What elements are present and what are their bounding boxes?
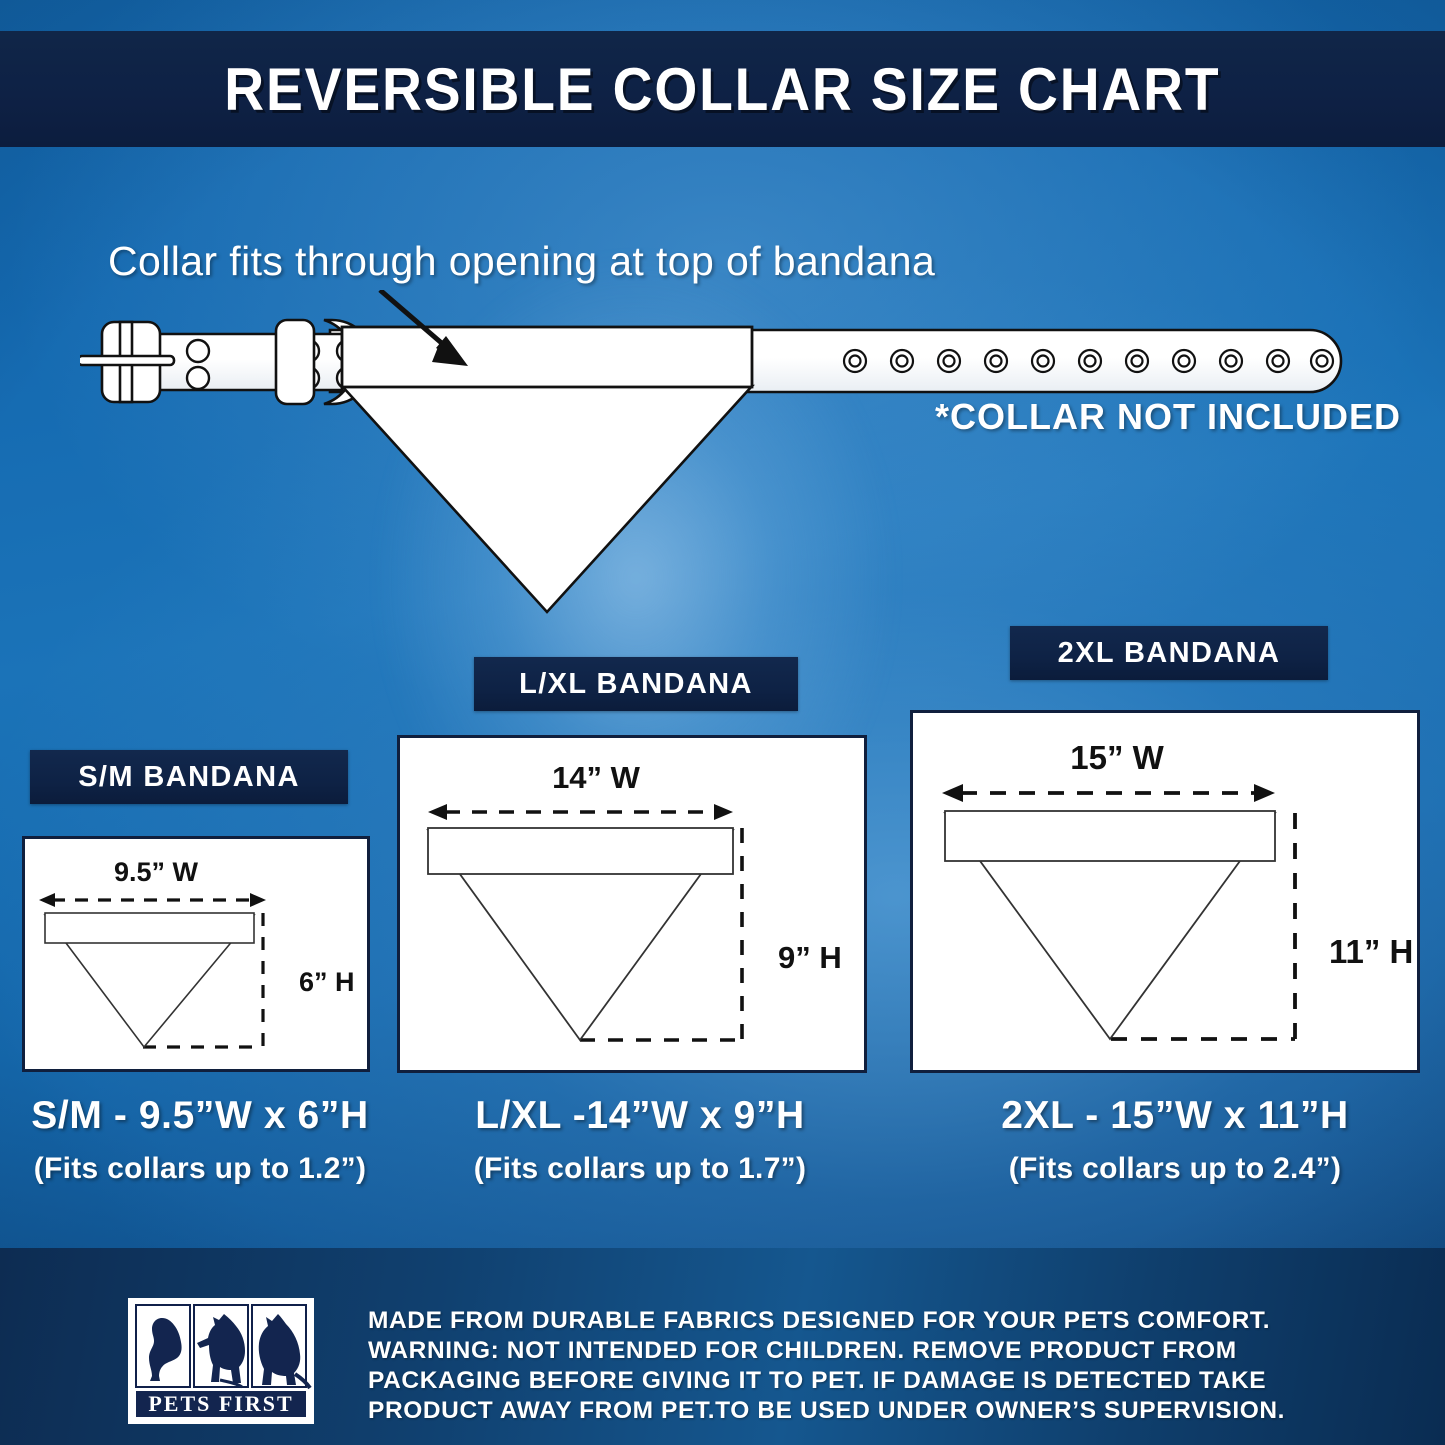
bandana-diagram-lxl: 14” W 9” H bbox=[400, 738, 864, 1070]
collar-buckle-icon bbox=[80, 322, 174, 402]
caption-2xl: 2XL - 15”W x 11”H (Fits collars up to 2.… bbox=[965, 1094, 1385, 1186]
collar-with-bandana-illustration bbox=[80, 290, 1370, 620]
sm-width-text: 9.5” W bbox=[114, 857, 199, 887]
size-panel-2xl-label: 2XL BANDANA bbox=[1010, 626, 1328, 680]
sm-bandana-sleeve bbox=[45, 913, 254, 943]
2xl-width-text: 15” W bbox=[1070, 739, 1164, 776]
caption-lxl-sub: (Fits collars up to 1.7”) bbox=[440, 1152, 840, 1186]
size-chart-page: REVERSIBLE COLLAR SIZE CHART Collar fits… bbox=[0, 0, 1445, 1445]
lxl-height-text: 9” H bbox=[778, 940, 842, 975]
caption-lxl: L/XL -14”W x 9”H (Fits collars up to 1.7… bbox=[440, 1094, 840, 1186]
bandana-sleeve-opening bbox=[342, 327, 752, 387]
caption-sm-main: S/M - 9.5”W x 6”H bbox=[0, 1094, 400, 1138]
legal-line-3: PACKAGING BEFORE GIVING IT TO PET. IF DA… bbox=[368, 1366, 1348, 1396]
size-panel-lxl-label: L/XL BANDANA bbox=[474, 657, 798, 711]
bandana-diagram-2xl: 15” W 11” H bbox=[913, 713, 1417, 1070]
legal-line-2: WARNING: NOT INTENDED FOR CHILDREN. REMO… bbox=[368, 1336, 1348, 1366]
size-panel-2xl-card: 15” W 11” H bbox=[910, 710, 1420, 1073]
legal-text: MADE FROM DURABLE FABRICS DESIGNED FOR Y… bbox=[368, 1306, 1348, 1426]
2xl-width-dimension-line bbox=[942, 784, 1275, 802]
bandana-diagram-sm: 9.5” W 6” H bbox=[25, 839, 367, 1069]
lxl-width-text: 14” W bbox=[552, 760, 641, 795]
bandana-triangle bbox=[342, 386, 752, 612]
lxl-bandana-sleeve bbox=[428, 828, 733, 874]
size-panel-lxl-card: 14” W 9” H bbox=[397, 735, 867, 1073]
page-title: REVERSIBLE COLLAR SIZE CHART bbox=[224, 55, 1220, 124]
pets-first-logo: PETS FIRST bbox=[128, 1298, 314, 1424]
size-panel-sm-card: 9.5” W 6” H bbox=[22, 836, 370, 1072]
logo-brand-text: PETS FIRST bbox=[148, 1391, 293, 1416]
size-panel-sm-label: S/M BANDANA bbox=[30, 750, 348, 804]
lxl-width-dimension-line bbox=[428, 804, 733, 820]
sm-width-dimension-line bbox=[39, 893, 266, 907]
2xl-bandana-sleeve bbox=[945, 811, 1275, 861]
collar-keeper-loop bbox=[276, 320, 314, 404]
legal-line-1: MADE FROM DURABLE FABRICS DESIGNED FOR Y… bbox=[368, 1306, 1348, 1336]
title-bar: REVERSIBLE COLLAR SIZE CHART bbox=[0, 31, 1445, 147]
caption-sm: S/M - 9.5”W x 6”H (Fits collars up to 1.… bbox=[0, 1094, 400, 1186]
caption-sm-sub: (Fits collars up to 1.2”) bbox=[0, 1152, 400, 1186]
legal-line-4: PRODUCT AWAY FROM PET.TO BE USED UNDER O… bbox=[368, 1396, 1348, 1426]
sm-height-text: 6” H bbox=[299, 967, 355, 997]
caption-lxl-main: L/XL -14”W x 9”H bbox=[440, 1094, 840, 1138]
collar-instruction-text: Collar fits through opening at top of ba… bbox=[108, 238, 935, 285]
2xl-height-text: 11” H bbox=[1329, 933, 1413, 970]
caption-2xl-main: 2XL - 15”W x 11”H bbox=[965, 1094, 1385, 1138]
caption-2xl-sub: (Fits collars up to 2.4”) bbox=[965, 1152, 1385, 1186]
